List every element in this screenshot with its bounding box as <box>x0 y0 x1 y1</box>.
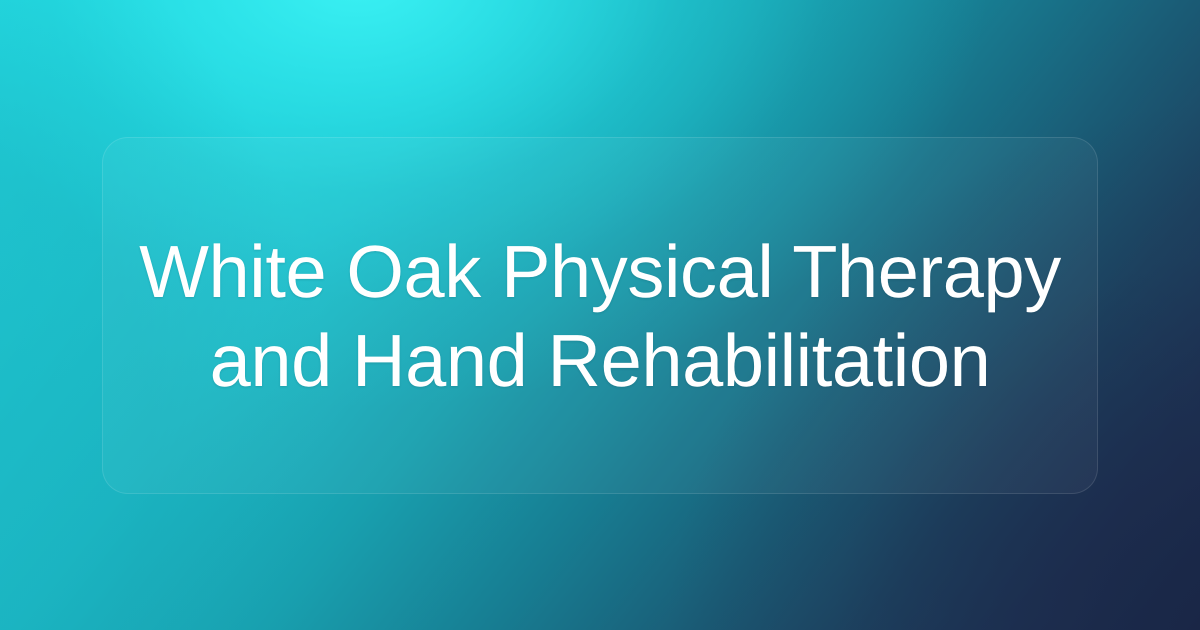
page-title: White Oak Physical Therapy and Hand Reha… <box>135 227 1065 405</box>
og-banner: White Oak Physical Therapy and Hand Reha… <box>0 0 1200 630</box>
title-card: White Oak Physical Therapy and Hand Reha… <box>102 137 1098 494</box>
